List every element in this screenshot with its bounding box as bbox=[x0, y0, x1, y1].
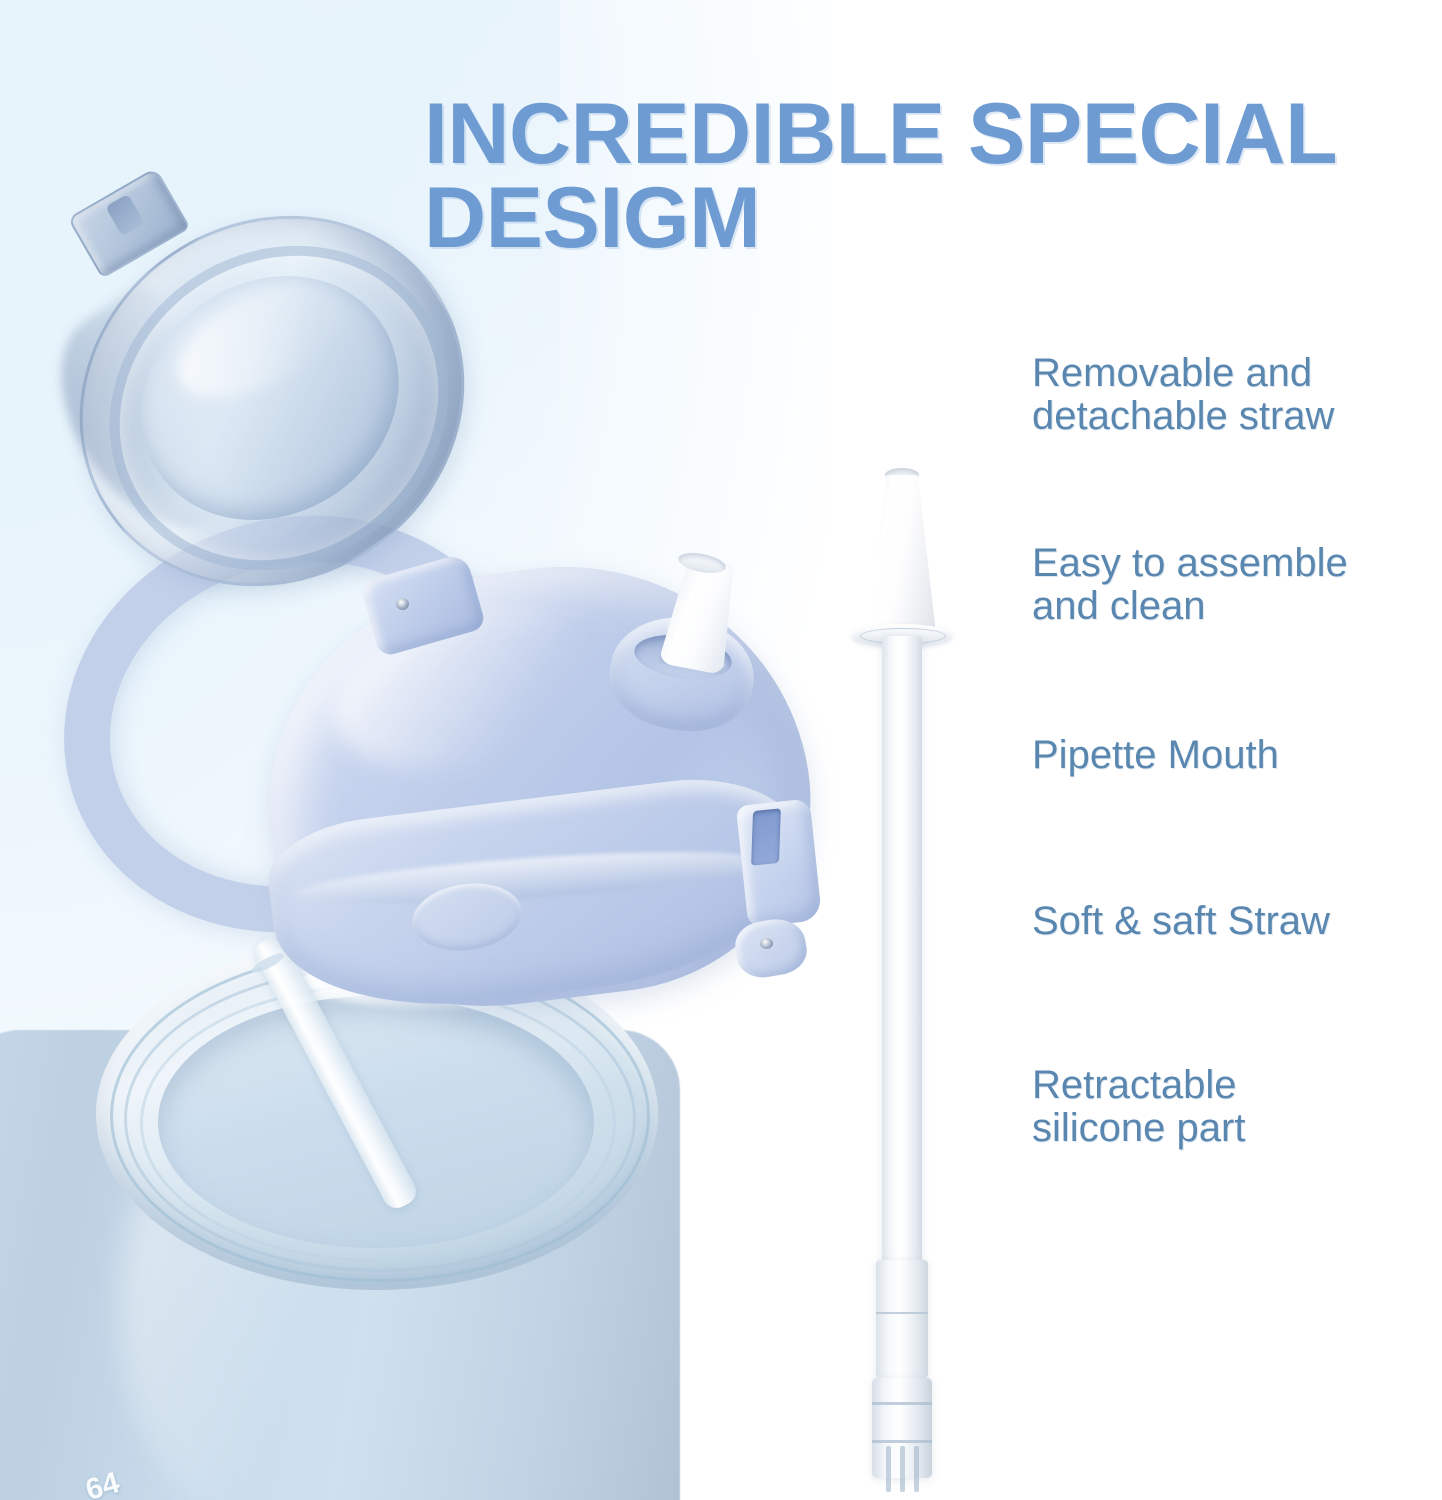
straw-base-groove-lower bbox=[872, 1440, 932, 1443]
feature-item-removable-straw: Removable and detachable straw bbox=[1032, 352, 1334, 438]
straw-connector bbox=[876, 1260, 928, 1378]
straw-base-groove-upper bbox=[872, 1402, 932, 1405]
product-feature-graphic: 64 INCREDIBLE SPECIAL DESIGM Removable a… bbox=[0, 0, 1442, 1500]
cap-latch-slot bbox=[751, 808, 781, 865]
lid-hinge-pin bbox=[396, 598, 409, 610]
feature-item-easy-assemble: Easy to assemble and clean bbox=[1032, 542, 1348, 628]
straw-tube bbox=[882, 636, 922, 1276]
feature-item-pipette-mouth: Pipette Mouth bbox=[1032, 734, 1279, 777]
page-title: INCREDIBLE SPECIAL DESIGM bbox=[424, 92, 1434, 261]
feature-item-soft-straw: Soft & saft Straw bbox=[1032, 900, 1330, 943]
straw-connector-seam bbox=[876, 1312, 928, 1314]
detachable-straw bbox=[830, 440, 1010, 1500]
straw-base-slot-right bbox=[914, 1446, 919, 1492]
cap-latch-pin bbox=[760, 938, 773, 949]
feature-item-retractable-silicone: Retractable silicone part bbox=[1032, 1064, 1245, 1150]
straw-base-slot-left bbox=[886, 1446, 891, 1492]
straw-base-slot-center bbox=[900, 1446, 905, 1492]
straw-mouthpiece-cone bbox=[868, 475, 936, 633]
